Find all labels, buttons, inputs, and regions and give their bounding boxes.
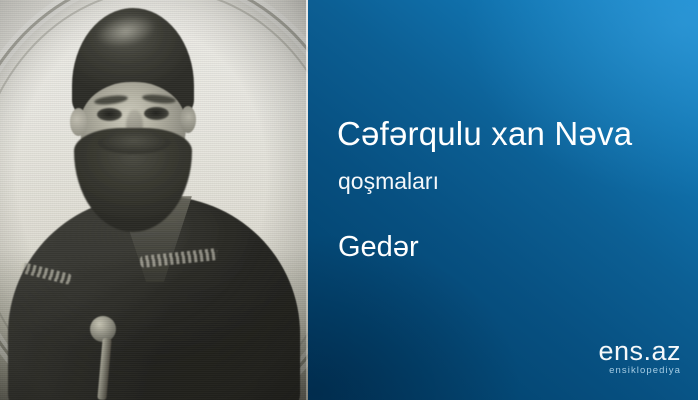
photo-vignette xyxy=(0,0,308,400)
site-logo[interactable]: ens.az ensiklopediya xyxy=(598,338,681,376)
encyclopedia-entry-card: Cəfərqulu xan Nəva qoşmaları Gedər ens.a… xyxy=(0,0,698,400)
logo-wordmark: ens.az xyxy=(598,338,681,365)
page-title: Cəfərqulu xan Nəva xyxy=(337,114,632,154)
logo-tagline: ensiklopediya xyxy=(598,366,681,376)
page-subtitle: qoşmaları xyxy=(338,166,439,196)
portrait-photo xyxy=(0,0,308,400)
title-panel: Cəfərqulu xan Nəva qoşmaları Gedər ens.a… xyxy=(308,0,698,400)
work-title: Gedər xyxy=(338,228,419,266)
